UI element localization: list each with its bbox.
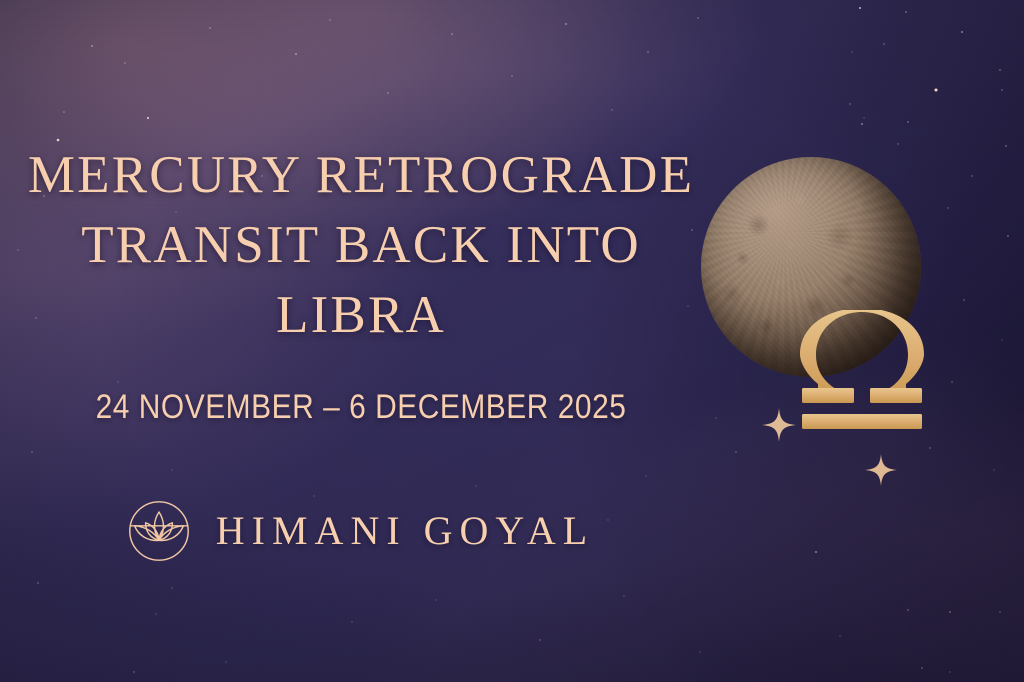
page-title: MERCURY RETROGRADE TRANSIT BACK INTO LIB… xyxy=(0,140,722,350)
title-line-1: MERCURY RETROGRADE xyxy=(0,140,722,210)
sparkle-icon xyxy=(865,454,897,486)
brand-lockup: HIMANI GOYAL xyxy=(0,500,722,562)
title-line-3: LIBRA xyxy=(0,280,722,350)
sparkle-icon xyxy=(762,408,796,442)
brand-name: HIMANI GOYAL xyxy=(216,511,594,551)
astrology-poster: MERCURY RETROGRADE TRANSIT BACK INTO LIB… xyxy=(0,0,1024,682)
title-line-2: TRANSIT BACK INTO xyxy=(0,210,722,280)
libra-symbol-icon xyxy=(800,310,924,430)
date-range: 24 NOVEMBER – 6 DECEMBER 2025 xyxy=(43,386,678,428)
lotus-in-circle-icon xyxy=(128,500,190,562)
